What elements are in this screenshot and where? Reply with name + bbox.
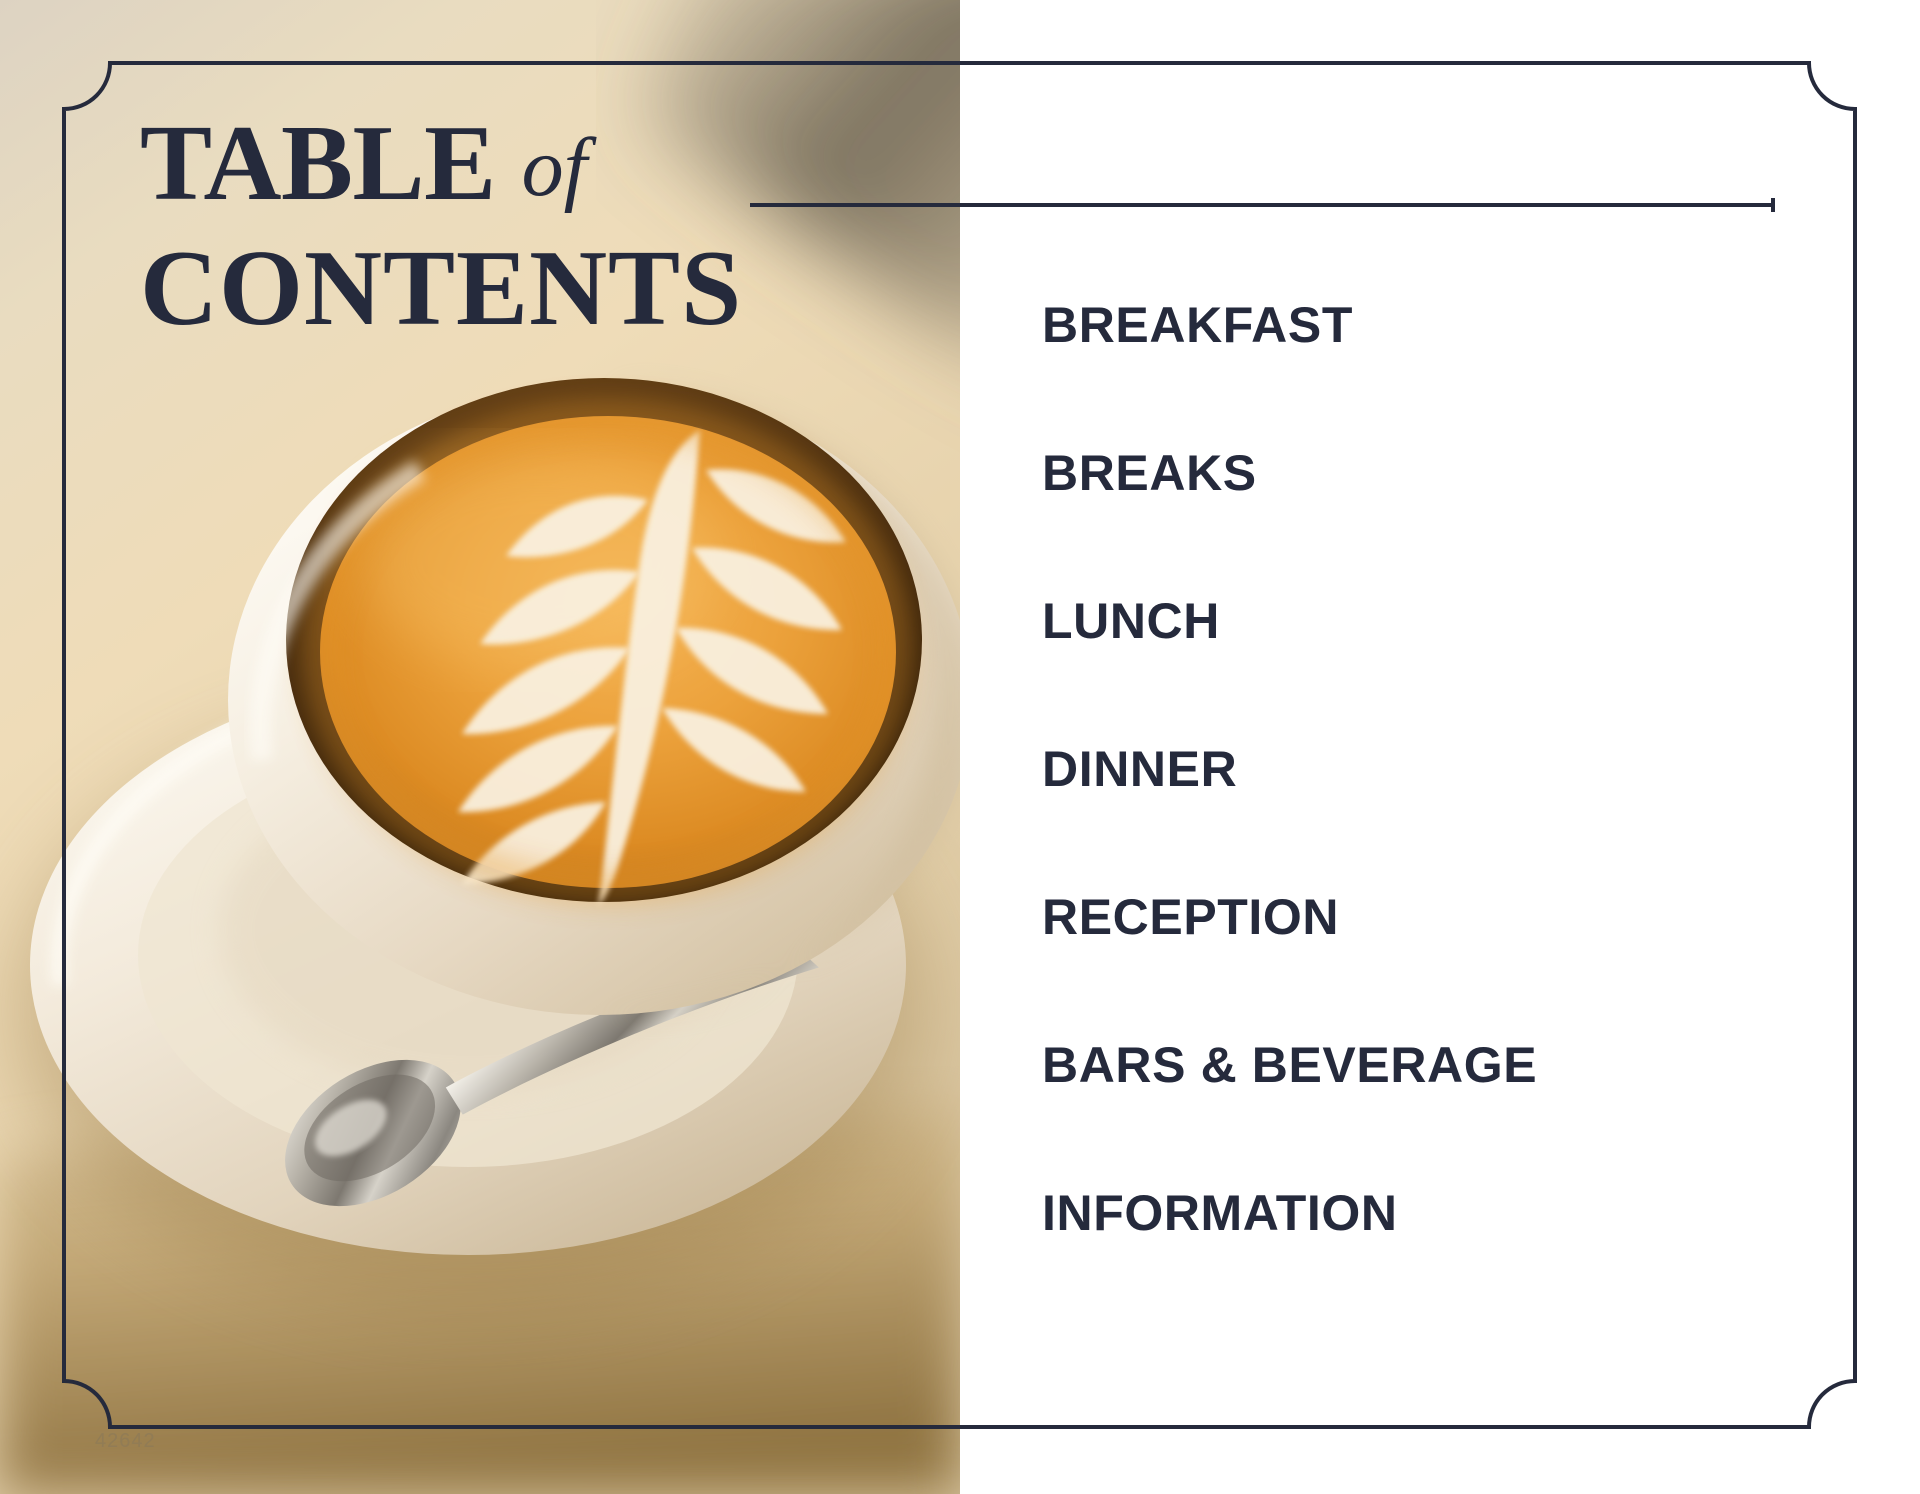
divider-end-cap [1771,198,1775,212]
title-word-table: TABLE [140,104,496,223]
toc-item-lunch[interactable]: LUNCH [1042,591,1862,739]
title-word-of: of [496,121,587,214]
toc-item-bars-beverage[interactable]: BARS & BEVERAGE [1042,1035,1862,1183]
table-of-contents-list[interactable]: BREAKFAST BREAKS LUNCH DINNER RECEPTION … [1042,295,1862,1331]
page-title: TABLEof CONTENTS [140,112,930,342]
divider-bar [750,203,1773,207]
toc-item-breaks[interactable]: BREAKS [1042,443,1862,591]
slide-canvas: TABLEof CONTENTS BREAKFAST BREAKS LUNCH … [0,0,1920,1494]
toc-item-dinner[interactable]: DINNER [1042,739,1862,887]
watermark-id: 42642 [95,1430,156,1453]
toc-item-breakfast[interactable]: BREAKFAST [1042,295,1862,443]
title-line-two: CONTENTS [140,237,930,342]
toc-item-information[interactable]: INFORMATION [1042,1183,1862,1331]
toc-item-reception[interactable]: RECEPTION [1042,887,1862,1035]
title-divider-rule [750,198,1775,212]
